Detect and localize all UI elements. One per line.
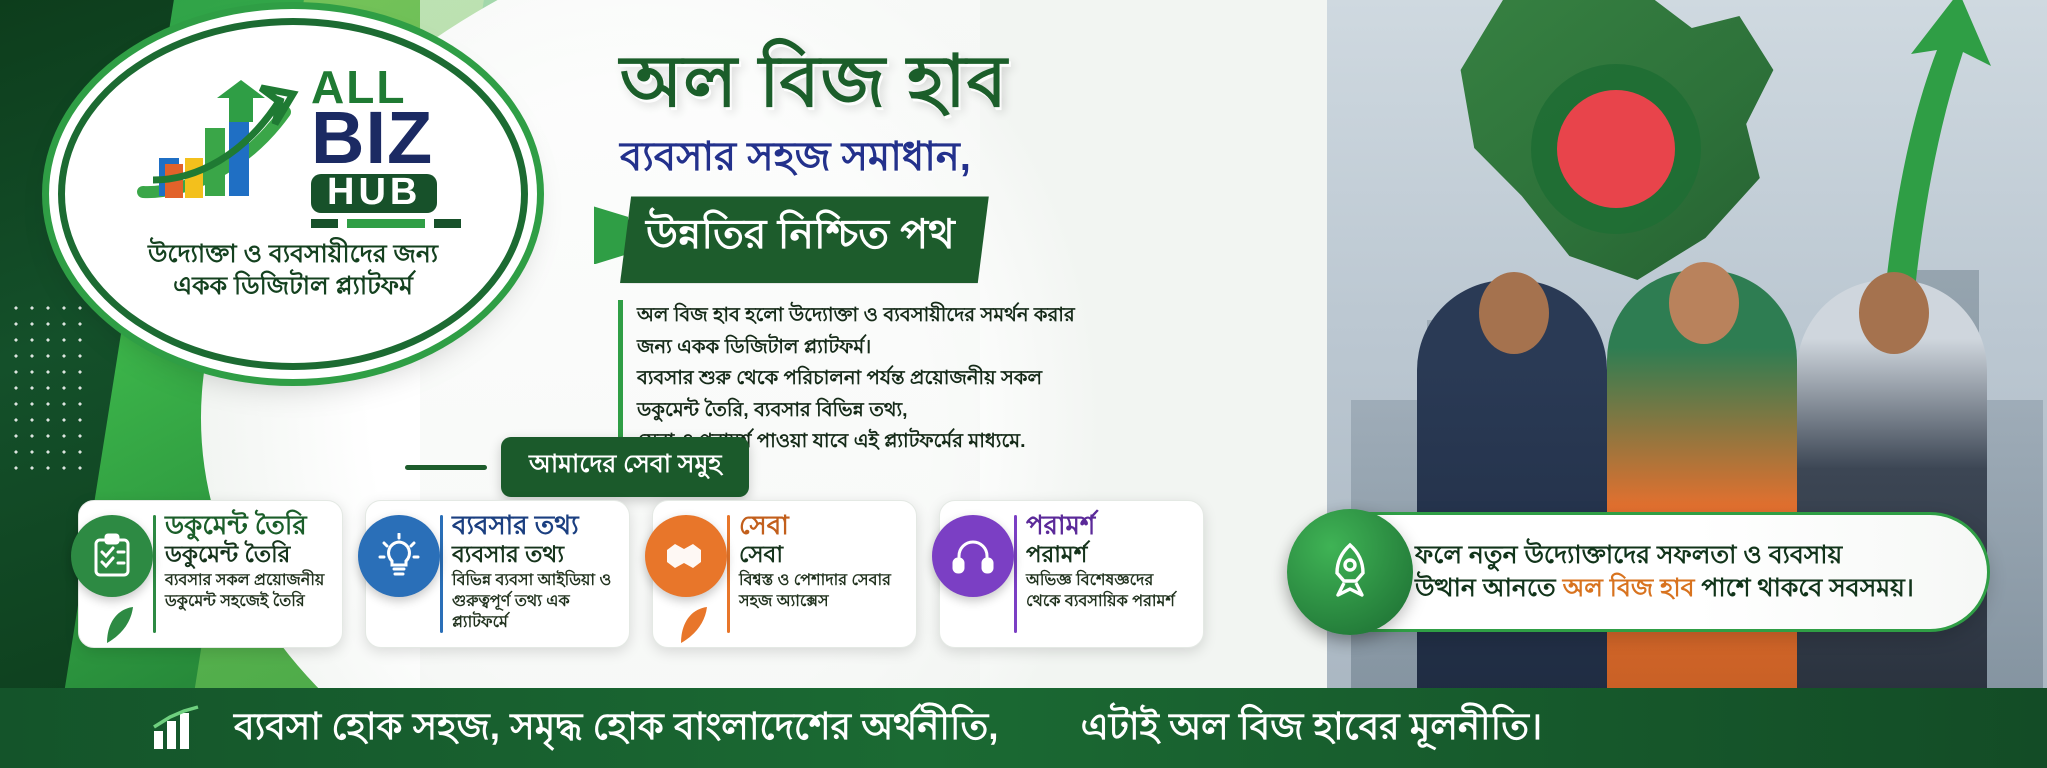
service-card-description: অভিজ্ঞ বিশেষজ্ঞদের থেকে ব্যবসায়িক পরামর… [1026,571,1191,613]
logo-tagline: উদ্যোক্তা ও ব্যবসায়ীদের জন্য একক ডিজিটা… [148,238,438,302]
service-card-subtitle: ডকুমেন্ট তৈরি [165,541,330,567]
service-card-title: ডকুমেন্ট তৈরি [165,511,330,540]
cta-text: ফলে নতুন উদ্যোক্তাদের সফলতা ও ব্যবসায় উ… [1415,539,1914,606]
ribbon-tail-shape [594,206,628,264]
services-card-row: ডকুমেন্ট তৈরি ডকুমেন্ট তৈরি ব্যবসার সকল … [78,500,1204,648]
logo-badge: ALL BIZ HUB উদ্যোক্তা ও ব্যবসায়ীদের জন্… [58,18,528,370]
leaf-accent-icon [675,605,709,645]
logo-text-biz: BIZ [311,104,433,172]
cta-banner[interactable]: ফলে নতুন উদ্যোক্তাদের সফলতা ও ব্যবসায় উ… [1290,512,1990,632]
rocket-icon [1287,509,1413,635]
service-card-title: ব্যবসার তথ্য [452,511,617,540]
cta-line-1: ফলে নতুন উদ্যোক্তাদের সফলতা ও ব্যবসায় [1415,539,1914,573]
logo-text-hub: HUB [311,174,437,213]
page-title: অল বিজ হাব [620,46,1180,119]
intro-paragraph-line2: ব্যবসার শুরু থেকে পরিচালনা পর্যন্ত প্রয়… [637,363,1088,426]
cta-highlight: অল বিজ হাব [1563,574,1695,602]
cta-line-2-suffix: পাশে থাকবে সবসময়। [1694,574,1913,602]
handshake-icon [645,515,727,597]
intro-paragraph: অল বিজ হাব হলো উদ্যোক্তা ও ব্যবসায়ীদের … [618,300,1088,458]
cta-line-2-prefix: উত্থান আনতে [1415,574,1563,602]
logo-tagline-line2: একক ডিজিটাল প্ল্যাটফর্ম [148,270,438,302]
service-card-title: সেবা [739,511,904,540]
service-card[interactable]: ডকুমেন্ট তৈরি ডকুমেন্ট তৈরি ব্যবসার সকল … [78,500,343,648]
services-header-rule [405,465,487,470]
footer-text-left: ব্যবসা হোক সহজ, সমৃদ্ধ হোক বাংলাদেশের অর… [234,697,999,760]
logo-bar-chart-arrow-icon [125,72,305,222]
banner-root: ALL BIZ HUB উদ্যোক্তা ও ব্যবসায়ীদের জন্… [0,0,2047,768]
footer-bar: ব্যবসা হোক সহজ, সমৃদ্ধ হোক বাংলাদেশের অর… [0,688,2047,768]
service-card[interactable]: ব্যবসার তথ্য ব্যবসার তথ্য বিভিন্ন ব্যবসা… [365,500,630,648]
lightbulb-icon [358,515,440,597]
service-card[interactable]: সেবা সেবা বিশ্বস্ত ও পেশাদার সেবার সহজ অ… [652,500,917,648]
headset-icon [932,515,1014,597]
service-card-description: বিশ্বস্ত ও পেশাদার সেবার সহজ অ্যাক্সেস [739,571,904,613]
headline-subtitle: ব্যবসার সহজ সমাধান, [620,125,1180,192]
service-card-subtitle: সেবা [739,541,904,567]
headline-ribbon: উন্নতির নিশ্চিত পথ [620,196,989,283]
cta-line-2: উত্থান আনতে অল বিজ হাব পাশে থাকবে সবসময়… [1415,572,1914,606]
service-card[interactable]: পরামর্শ পরামর্শ অভিজ্ঞ বিশেষজ্ঞদের থেকে … [939,500,1204,648]
services-header-label: আমাদের সেবা সমুহ [501,437,749,497]
growth-chart-icon [150,705,204,751]
service-card-title: পরামর্শ [1026,511,1191,540]
service-card-subtitle: ব্যবসার তথ্য [452,541,617,567]
footer-text-right: এটাই অল বিজ হাবের মূলনীতি। [1081,697,1543,760]
leaf-accent-icon [101,605,135,645]
service-card-description: ব্যবসার সকল প্রয়োজনীয় ডকুমেন্ট সহজেই ত… [165,571,330,613]
logo-divider-rule [311,219,461,228]
services-header: আমাদের সেবা সমুহ [405,437,749,497]
service-card-description: বিভিন্ন ব্যবসা আইডিয়া ও গুরুত্বপূর্ণ তথ… [452,571,617,633]
intro-paragraph-line1: অল বিজ হাব হলো উদ্যোক্তা ও ব্যবসায়ীদের … [637,300,1088,363]
headline-block: অল বিজ হাব ব্যবসার সহজ সমাধান, উন্নতির ন… [620,46,1180,283]
bangladesh-flag-circle [1557,90,1675,208]
service-card-subtitle: পরামর্শ [1026,541,1191,567]
clipboard-check-icon [71,515,153,597]
logo-tagline-line1: উদ্যোক্তা ও ব্যবসায়ীদের জন্য [148,238,438,270]
